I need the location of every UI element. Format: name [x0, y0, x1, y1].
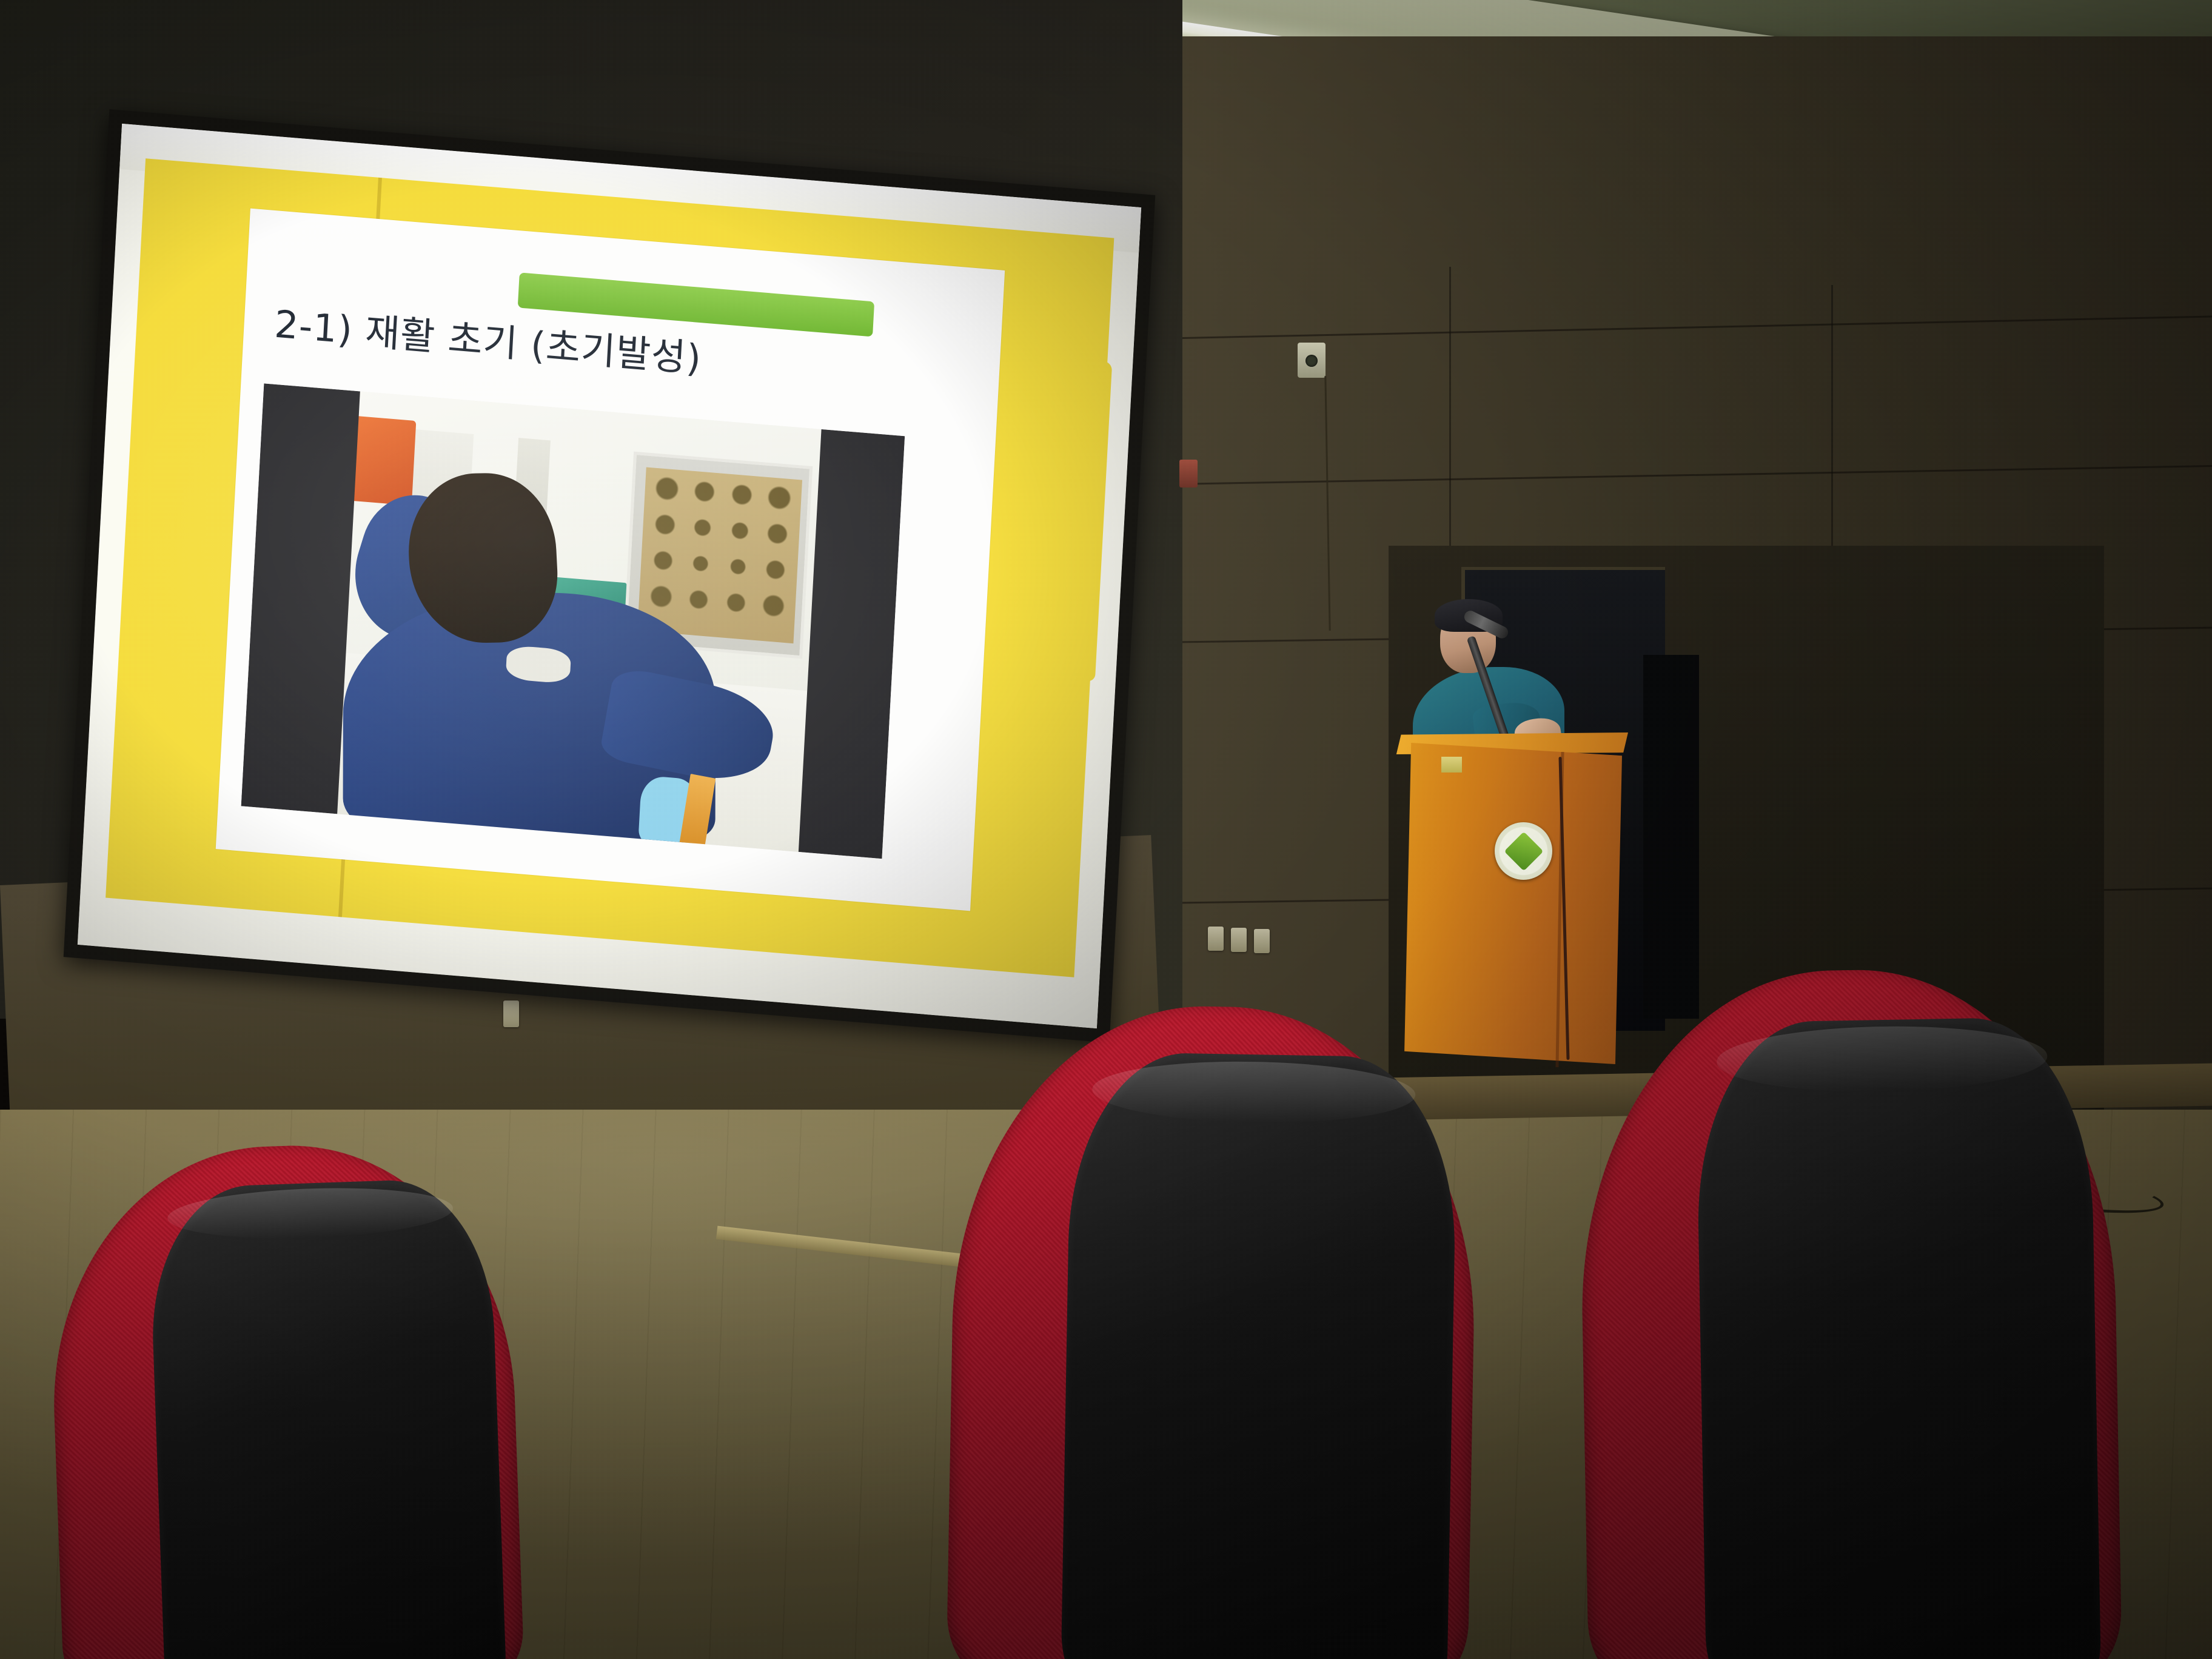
wall-sensor-icon: [1298, 343, 1326, 378]
wall-outlet-icon: [503, 1000, 519, 1027]
screen-surface: 2-1) 재활 초기 (초기발성): [78, 124, 1141, 1028]
slide-folder-tab: [1004, 354, 1113, 682]
presentation-slide: 2-1) 재활 초기 (초기발성): [78, 124, 1141, 1028]
university-seal-icon: [1495, 822, 1552, 880]
slide-photo: [241, 383, 905, 859]
doorway-shadow: [1643, 655, 1699, 1019]
wall-outlet-icon: [1231, 928, 1247, 952]
wall-outlet-icon: [1208, 927, 1224, 951]
auditorium-seat: [1577, 965, 2122, 1659]
auditorium-seat: [45, 1138, 525, 1659]
projection-screen: 2-1) 재활 초기 (초기발성): [64, 109, 1156, 1043]
auditorium-scene: 주최 : 대구대학교 언어치료임상센터 장소 : 재활과학대학 강당: [0, 0, 2212, 1659]
auditorium-seat: [946, 1002, 1479, 1659]
podium-label-plate: [1441, 757, 1462, 773]
wall-outlet-icon: [1254, 929, 1270, 953]
fire-alarm-pull-icon: [1179, 460, 1198, 488]
slide-content-card: 2-1) 재활 초기 (초기발성): [216, 209, 1005, 911]
